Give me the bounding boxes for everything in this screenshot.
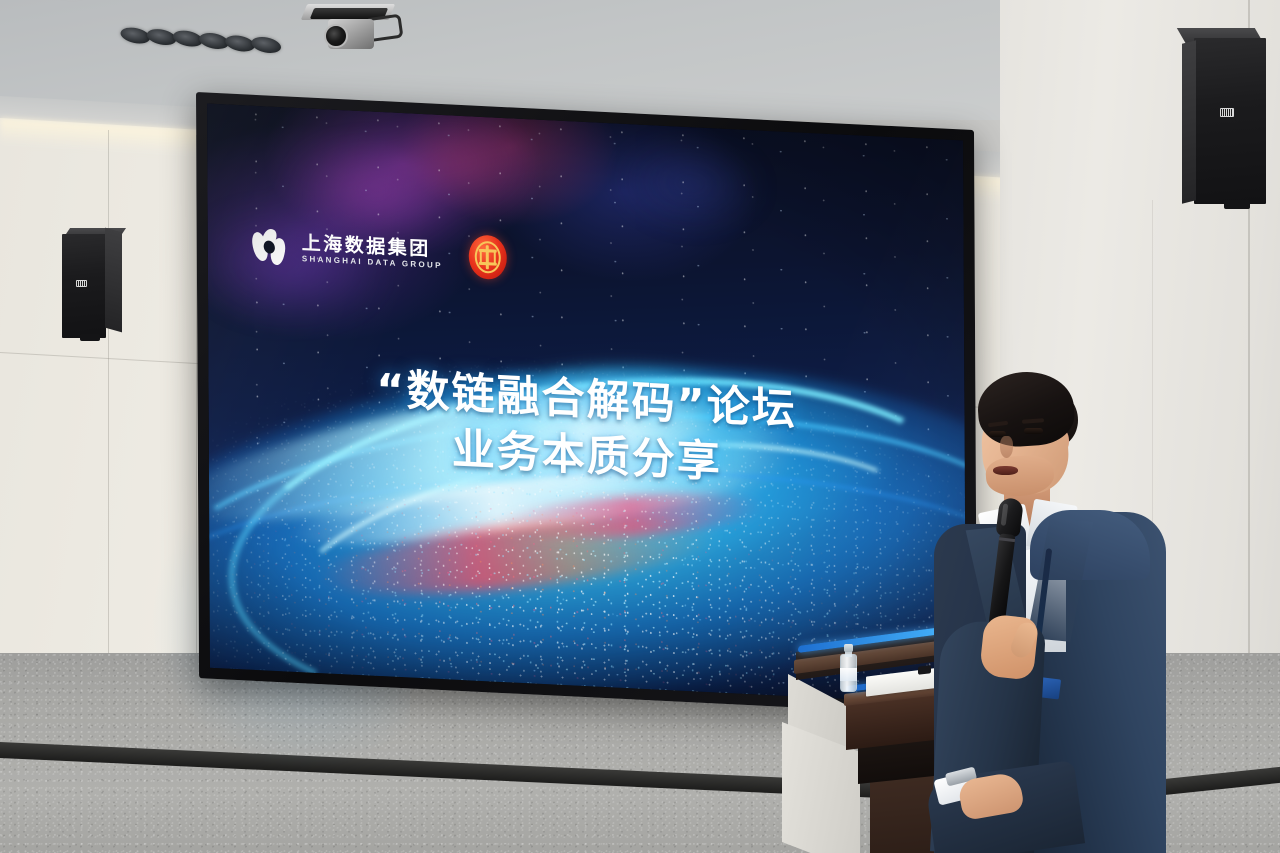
shanghai-data-group-wordmark: 上海数据集团 SHANGHAI DATA GROUP xyxy=(302,234,443,270)
hair xyxy=(976,369,1077,450)
shanghai-data-group-logo-icon xyxy=(252,228,286,266)
speaker-side xyxy=(1182,40,1196,203)
speaker-side xyxy=(105,228,122,333)
screen-surface[interactable]: 上海数据集团 SHANGHAI DATA GROUP “数链融合解码”论坛 业务… xyxy=(207,104,966,705)
projector-lens-icon xyxy=(324,24,348,48)
wall-speaker-right xyxy=(1182,28,1280,206)
speaker-bracket xyxy=(1224,200,1250,209)
eye xyxy=(1024,428,1043,434)
speaker-bracket xyxy=(80,334,100,341)
mouth xyxy=(993,466,1018,475)
wall-panel-seam xyxy=(108,130,109,730)
jbl-logo-icon xyxy=(1220,108,1234,117)
water-bottle-icon xyxy=(840,644,857,692)
ceiling-projector xyxy=(300,2,398,58)
speaker-grille xyxy=(1194,38,1266,204)
led-video-wall[interactable]: 上海数据集团 SHANGHAI DATA GROUP “数链融合解码”论坛 业务… xyxy=(196,92,977,716)
wall-speaker-left xyxy=(62,228,134,340)
jbl-logo-icon xyxy=(76,280,87,287)
microphone-head xyxy=(996,497,1024,538)
presenter xyxy=(930,372,1190,853)
nose xyxy=(1000,436,1013,458)
trade-union-emblem-icon xyxy=(469,234,507,280)
conference-presentation-photo: 上海数据集团 SHANGHAI DATA GROUP “数链融合解码”论坛 业务… xyxy=(0,0,1280,853)
